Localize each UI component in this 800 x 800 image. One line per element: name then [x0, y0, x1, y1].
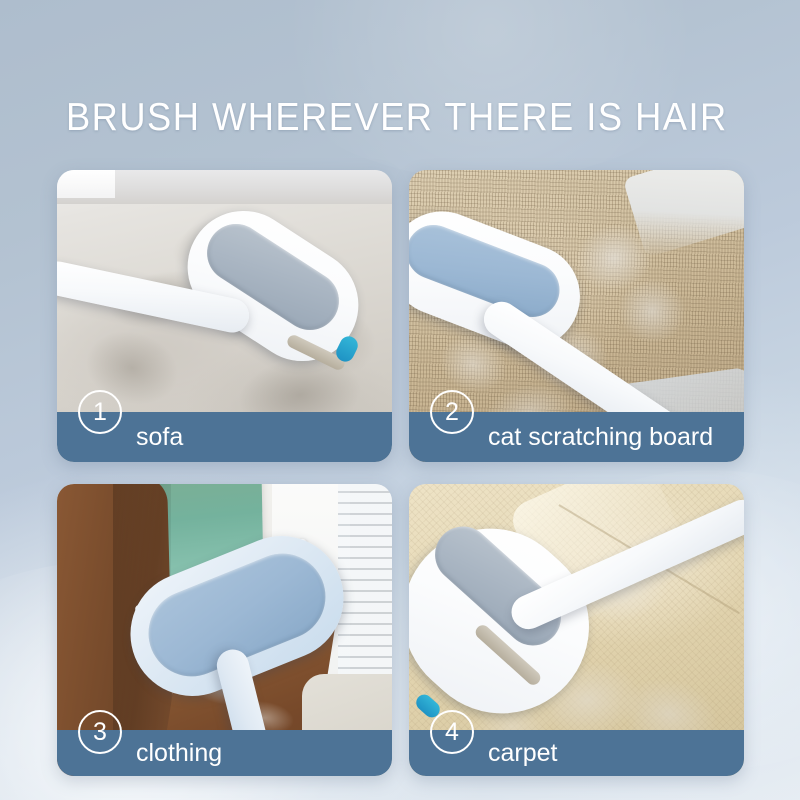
board-edge-top [623, 170, 744, 258]
caption-label: sofa [136, 423, 183, 451]
caption-bar: 3 clothing [57, 730, 392, 776]
fur-clump [597, 257, 708, 365]
background-glow-top [250, 0, 730, 180]
panel-number-badge: 4 [430, 710, 474, 754]
panel-sofa[interactable]: 1 sofa [57, 170, 392, 462]
panel-grid: 1 sofa [57, 170, 744, 776]
caption-label: clothing [136, 739, 222, 767]
panel-carpet[interactable]: 4 carpet [409, 484, 744, 776]
panel-cat-scratching-board[interactable]: 2 cat scratching board [409, 170, 744, 462]
panel-number-badge: 3 [78, 710, 122, 754]
caption-bar: 2 cat scratching board [409, 412, 744, 462]
caption-bar: 1 sofa [57, 412, 392, 462]
caption-label: cat scratching board [488, 423, 713, 451]
caption-bar: 4 carpet [409, 730, 744, 776]
panel-number-badge: 1 [78, 390, 122, 434]
page-title: BRUSH WHEREVER THERE IS HAIR [66, 96, 717, 140]
product-poster: BRUSH WHEREVER THERE IS HAIR [0, 0, 800, 800]
panel-number-badge: 2 [430, 390, 474, 434]
sofa-highlight [57, 170, 115, 198]
caption-label: carpet [488, 739, 557, 767]
panel-clothing[interactable]: 3 clothing [57, 484, 392, 776]
